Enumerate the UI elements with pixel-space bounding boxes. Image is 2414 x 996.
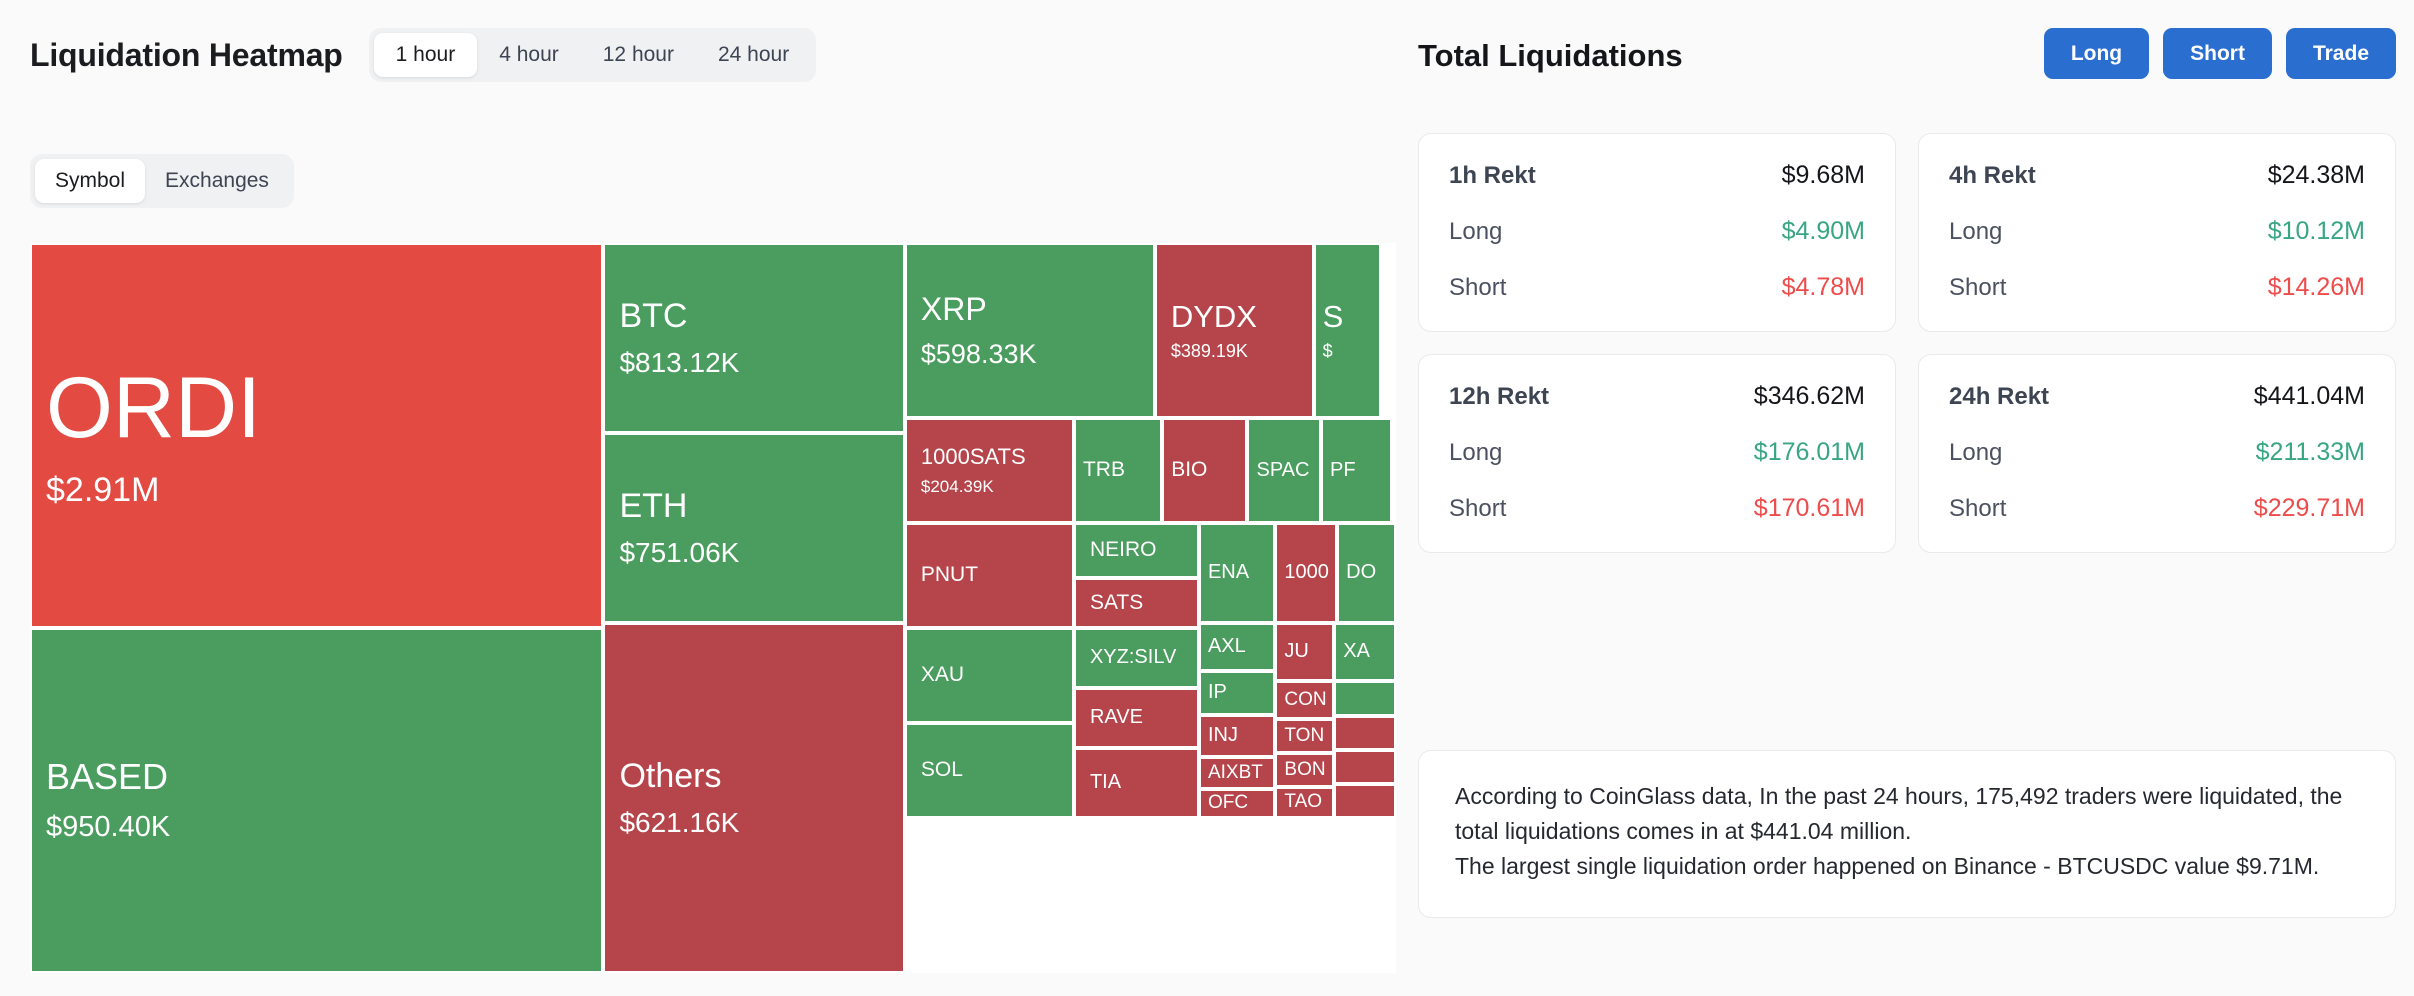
treemap-cell-xa[interactable]: XA: [1334, 623, 1396, 681]
treemap-cell-symbol: RAVE: [1090, 707, 1183, 729]
rekt-long-row: Long$10.12M: [1949, 217, 2365, 246]
treemap-cell-based[interactable]: BASED$950.40K: [30, 628, 603, 973]
treemap-cell-dydx[interactable]: DYDX$389.19K: [1155, 243, 1314, 418]
treemap-cell-symbol: IP: [1208, 682, 1266, 704]
rekt-total-row: 12h Rekt$346.62M: [1449, 382, 1865, 411]
action-button-group: LongShortTrade: [2044, 28, 2396, 79]
long-label: Long: [1949, 218, 2002, 246]
timeframe-segmented-control[interactable]: 1 hour4 hour12 hour24 hour: [369, 28, 817, 82]
treemap-cell-symbol: Others: [619, 758, 888, 795]
view-tab-exchanges[interactable]: Exchanges: [145, 159, 289, 203]
long-button[interactable]: Long: [2044, 28, 2149, 79]
treemap-cell-symbol: TAO: [1284, 792, 1325, 813]
treemap-cell-symbol: S: [1323, 300, 1373, 333]
treemap-cell-symbol: DYDX: [1171, 300, 1298, 333]
treemap-cell-1000sats[interactable]: 1000SATS$204.39K: [905, 418, 1074, 523]
treemap-cell-neiro[interactable]: NEIRO: [1074, 523, 1199, 578]
treemap-cell-ju[interactable]: JU: [1275, 623, 1334, 681]
view-tab-symbol[interactable]: Symbol: [35, 159, 145, 203]
treemap-cell-inj[interactable]: INJ: [1199, 715, 1275, 757]
rekt-short-row: Short$14.26M: [1949, 273, 2365, 302]
treemap-cell-value: $: [1323, 342, 1373, 361]
short-label: Short: [1949, 495, 2006, 523]
treemap-cell-rave[interactable]: RAVE: [1074, 688, 1199, 748]
timeframe-tab-24-hour[interactable]: 24 hour: [696, 33, 811, 77]
timeframe-tab-12-hour[interactable]: 12 hour: [581, 33, 696, 77]
treemap-cell[interactable]: [1334, 681, 1396, 716]
trade-button[interactable]: Trade: [2286, 28, 2396, 79]
total-liquidations-panel: Total Liquidations LongShortTrade 1h Rek…: [1400, 0, 2414, 996]
rekt-card: 12h Rekt$346.62MLong$176.01MShort$170.61…: [1418, 354, 1896, 553]
treemap-cell-symbol: BON: [1284, 760, 1325, 781]
rekt-short-row: Short$170.61M: [1449, 494, 1865, 523]
treemap-cell-symbol: TON: [1284, 726, 1325, 747]
treemap-cell-symbol: BASED: [46, 758, 587, 797]
summary-line-1: According to CoinGlass data, In the past…: [1455, 779, 2359, 849]
timeframe-tab-4-hour[interactable]: 4 hour: [477, 33, 581, 77]
treemap-cell-xyz-silv[interactable]: XYZ:SILV: [1074, 628, 1199, 688]
liquidation-dashboard: Liquidation Heatmap 1 hour4 hour12 hour2…: [0, 0, 2414, 996]
treemap-cell-xrp[interactable]: XRP$598.33K: [905, 243, 1155, 418]
rekt-long-row: Long$176.01M: [1449, 438, 1865, 467]
rekt-card-grid: 1h Rekt$9.68MLong$4.90MShort$4.78M4h Rek…: [1418, 133, 2396, 553]
treemap-cell-btc[interactable]: BTC$813.12K: [603, 243, 904, 433]
rekt-period-label: 12h Rekt: [1449, 383, 1549, 411]
rekt-total-row: 4h Rekt$24.38M: [1949, 161, 2365, 190]
treemap-cell-value: $813.12K: [619, 348, 888, 378]
treemap-cell-symbol: PNUT: [921, 564, 1058, 587]
treemap-cell-symbol: 1000SATS: [921, 445, 1058, 469]
rekt-card: 1h Rekt$9.68MLong$4.90MShort$4.78M: [1418, 133, 1896, 332]
heatmap-header: Liquidation Heatmap 1 hour4 hour12 hour2…: [30, 28, 816, 82]
treemap-cell-pnut[interactable]: PNUT: [905, 523, 1074, 628]
treemap-cell-symbol: INJ: [1208, 725, 1266, 747]
short-value: $4.78M: [1782, 273, 1865, 302]
treemap-cell-symbol: DO: [1346, 562, 1387, 584]
rekt-total-value: $346.62M: [1754, 382, 1865, 411]
liquidation-treemap[interactable]: ORDI$2.91MBASED$950.40KBTC$813.12KETH$75…: [30, 243, 1396, 973]
treemap-cell-ena[interactable]: ENA: [1199, 523, 1275, 623]
treemap-cell-symbol: AXL: [1208, 636, 1266, 658]
treemap-cell-1000[interactable]: 1000: [1275, 523, 1337, 623]
treemap-cell[interactable]: [1334, 784, 1396, 818]
treemap-cell-axl[interactable]: AXL: [1199, 623, 1275, 671]
treemap-cell-symbol: XRP: [921, 292, 1139, 327]
treemap-cell-spac[interactable]: SPAC: [1247, 418, 1321, 523]
treemap-cell-ordi[interactable]: ORDI$2.91M: [30, 243, 603, 628]
short-value: $170.61M: [1754, 494, 1865, 523]
treemap-cell[interactable]: [1334, 750, 1396, 784]
treemap-cell-con[interactable]: CON: [1275, 681, 1334, 719]
treemap-cell-symbol: TIA: [1090, 772, 1183, 794]
treemap-cell[interactable]: [1334, 716, 1396, 750]
treemap-cell-value: $389.19K: [1171, 342, 1298, 361]
rekt-period-label: 1h Rekt: [1449, 162, 1536, 190]
treemap-cell-symbol: ENA: [1208, 562, 1266, 584]
treemap-cell-symbol: OFC: [1208, 793, 1266, 814]
treemap-cell-value: $204.39K: [921, 478, 1058, 496]
long-value: $211.33M: [2256, 438, 2365, 467]
treemap-cell-value: $598.33K: [921, 340, 1139, 369]
short-value: $14.26M: [2268, 273, 2365, 302]
summary-line-2: The largest single liquidation order hap…: [1455, 849, 2359, 884]
total-liquidations-title: Total Liquidations: [1418, 38, 1683, 74]
treemap-cell-symbol: XAU: [921, 664, 1058, 687]
treemap-cell-value: $751.06K: [619, 538, 888, 568]
timeframe-tab-1-hour[interactable]: 1 hour: [374, 33, 478, 77]
treemap-cell-symbol: TRB: [1083, 459, 1153, 482]
treemap-cell-s[interactable]: S$: [1314, 243, 1382, 418]
treemap-cell-value: $2.91M: [46, 472, 587, 509]
treemap-cell-symbol: BIO: [1171, 459, 1238, 482]
rekt-long-row: Long$4.90M: [1449, 217, 1865, 246]
short-value: $229.71M: [2254, 494, 2365, 523]
heatmap-panel: Liquidation Heatmap 1 hour4 hour12 hour2…: [0, 0, 1400, 996]
treemap-cell-do[interactable]: DO: [1337, 523, 1396, 623]
page-title: Liquidation Heatmap: [30, 37, 343, 74]
treemap-cell-symbol: ETH: [619, 488, 888, 525]
rekt-total-row: 1h Rekt$9.68M: [1449, 161, 1865, 190]
treemap-cell-symbol: CON: [1284, 690, 1325, 711]
long-label: Long: [1449, 439, 1502, 467]
rekt-total-value: $441.04M: [2254, 382, 2365, 411]
treemap-cell-aixbt[interactable]: AIXBT: [1199, 757, 1275, 789]
treemap-cell-symbol: JU: [1284, 641, 1325, 663]
rekt-total-row: 24h Rekt$441.04M: [1949, 382, 2365, 411]
treemap-cell-trb[interactable]: TRB: [1074, 418, 1162, 523]
short-button[interactable]: Short: [2163, 28, 2272, 79]
long-value: $176.01M: [1754, 438, 1865, 467]
rekt-long-row: Long$211.33M: [1949, 438, 2365, 467]
treemap-cell-symbol: SOL: [921, 759, 1058, 782]
treemap-cell-symbol: XA: [1343, 641, 1387, 663]
short-label: Short: [1449, 495, 1506, 523]
treemap-cell-value: $950.40K: [46, 812, 587, 843]
treemap-cell-symbol: SATS: [1090, 592, 1183, 615]
treemap-cell-symbol: BTC: [619, 298, 888, 335]
treemap-cell-ip[interactable]: IP: [1199, 671, 1275, 715]
treemap-cell-symbol: AIXBT: [1208, 763, 1266, 784]
view-segmented-control[interactable]: SymbolExchanges: [30, 154, 294, 208]
treemap-cell-symbol: PF: [1330, 460, 1383, 482]
treemap-cell-ofc[interactable]: OFC: [1199, 789, 1275, 818]
short-label: Short: [1449, 274, 1506, 302]
treemap-cell-others[interactable]: Others$621.16K: [603, 623, 904, 973]
treemap-cell-bon[interactable]: BON: [1275, 753, 1334, 787]
treemap-cell-symbol: SPAC: [1256, 460, 1312, 482]
rekt-short-row: Short$229.71M: [1949, 494, 2365, 523]
long-label: Long: [1949, 439, 2002, 467]
treemap-cell-pf[interactable]: PF: [1321, 418, 1392, 523]
treemap-cell-tia[interactable]: TIA: [1074, 748, 1199, 818]
treemap-cell-symbol: XYZ:SILV: [1090, 647, 1183, 669]
rekt-total-value: $24.38M: [2268, 161, 2365, 190]
treemap-cell-tao[interactable]: TAO: [1275, 787, 1334, 818]
treemap-cell-value: $621.16K: [619, 808, 888, 838]
rekt-card: 4h Rekt$24.38MLong$10.12MShort$14.26M: [1918, 133, 2396, 332]
rekt-short-row: Short$4.78M: [1449, 273, 1865, 302]
treemap-cell-xau[interactable]: XAU: [905, 628, 1074, 723]
long-value: $4.90M: [1782, 217, 1865, 246]
short-label: Short: [1949, 274, 2006, 302]
rekt-card: 24h Rekt$441.04MLong$211.33MShort$229.71…: [1918, 354, 2396, 553]
treemap-cell-bio[interactable]: BIO: [1162, 418, 1247, 523]
treemap-cell-symbol: ORDI: [46, 362, 587, 455]
treemap-cell-sats[interactable]: SATS: [1074, 578, 1199, 628]
treemap-cell-ton[interactable]: TON: [1275, 719, 1334, 753]
treemap-cell-symbol: 1000: [1284, 562, 1328, 584]
treemap-cell-symbol: NEIRO: [1090, 539, 1183, 562]
treemap-cell-eth[interactable]: ETH$751.06K: [603, 433, 904, 623]
summary-card: According to CoinGlass data, In the past…: [1418, 750, 2396, 918]
rekt-total-value: $9.68M: [1782, 161, 1865, 190]
long-value: $10.12M: [2268, 217, 2365, 246]
total-liquidations-header: Total Liquidations LongShortTrade: [1418, 28, 2396, 90]
long-label: Long: [1449, 218, 1502, 246]
treemap-cell-sol[interactable]: SOL: [905, 723, 1074, 818]
rekt-period-label: 4h Rekt: [1949, 162, 2036, 190]
rekt-period-label: 24h Rekt: [1949, 383, 2049, 411]
